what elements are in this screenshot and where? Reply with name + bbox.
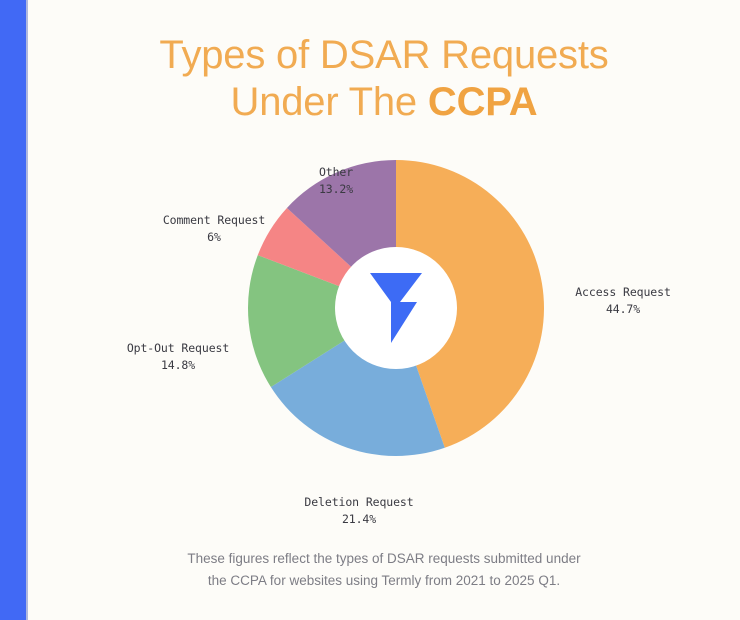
slice-label-deletion-request: Deletion Request 21.4% [254,494,464,527]
title-line-2-strong: CCPA [428,80,538,124]
footer-caption: These figures reflect the types of DSAR … [28,548,740,592]
slice-label-deletion-request-name: Deletion Request [254,494,464,511]
infographic-card: Types of DSAR Requests Under The CCPA Ot… [0,0,740,620]
donut-chart: Other 13.2% Comment Request 6% Opt-Out R… [28,150,740,540]
slice-label-deletion-request-value: 21.4% [254,511,464,528]
slice-label-other-value: 13.2% [276,181,396,198]
slice-label-comment-request-name: Comment Request [124,212,304,229]
title-line-1: Types of DSAR Requests [28,34,740,77]
slice-label-access-request-name: Access Request [528,284,718,301]
footer-caption-line-1: These figures reflect the types of DSAR … [28,548,740,570]
slice-label-comment-request: Comment Request 6% [124,212,304,245]
content-column: Types of DSAR Requests Under The CCPA Ot… [28,0,740,620]
slice-label-opt-out-request-value: 14.8% [88,357,268,374]
slice-label-opt-out-request: Opt-Out Request 14.8% [88,340,268,373]
slice-label-comment-request-value: 6% [124,229,304,246]
donut-center-hole [335,247,457,369]
slice-label-access-request-value: 44.7% [528,301,718,318]
slice-label-opt-out-request-name: Opt-Out Request [88,340,268,357]
left-accent-stripe [0,0,26,620]
page-title: Types of DSAR Requests Under The CCPA [28,34,740,124]
slice-label-access-request: Access Request 44.7% [528,284,718,317]
footer-caption-line-2: the CCPA for websites using Termly from … [28,570,740,592]
termly-bolt-icon [367,271,425,345]
donut-graphic [246,158,546,458]
title-line-2-prefix: Under The [231,80,428,124]
title-line-2: Under The CCPA [28,81,740,124]
slice-label-other: Other 13.2% [276,164,396,197]
slice-label-other-name: Other [276,164,396,181]
